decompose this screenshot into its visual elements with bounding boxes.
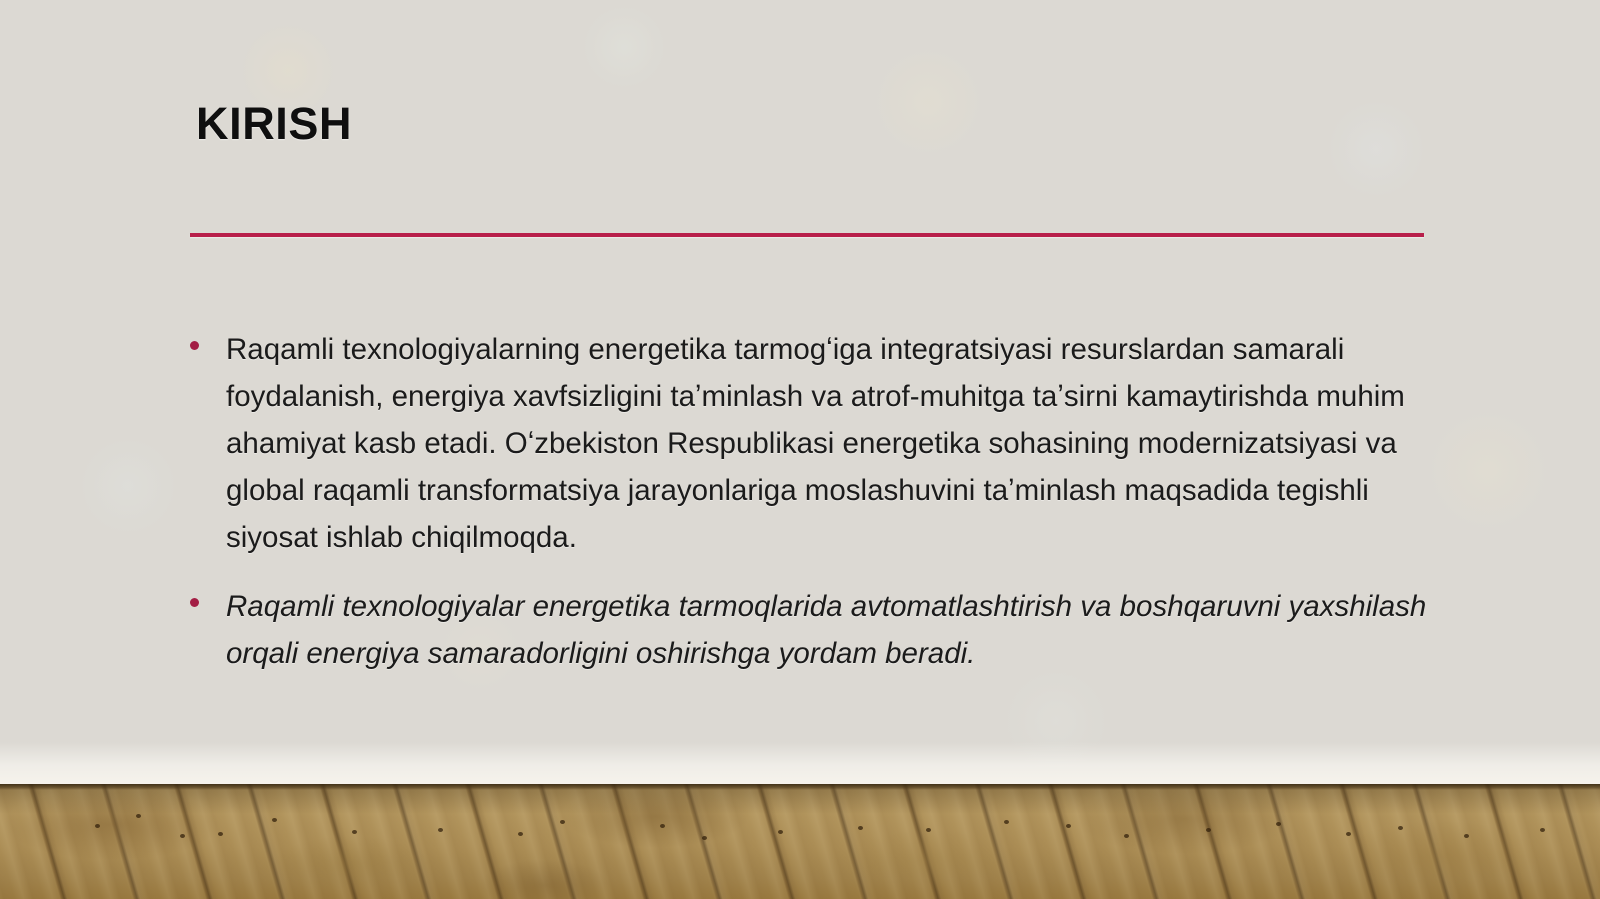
bullet-dot-icon: [190, 583, 226, 607]
bullet-list: Raqamli texnologiyalarning energetika ta…: [190, 326, 1435, 699]
list-item: Raqamli texnologiyalarning energetika ta…: [190, 326, 1435, 561]
bullet-paragraph: Raqamli texnologiyalarning energetika ta…: [226, 326, 1435, 561]
page-title: KIRISH: [196, 99, 352, 149]
list-item: Raqamli texnologiyalar energetika tarmoq…: [190, 583, 1435, 677]
title-underline-rule: [190, 233, 1424, 237]
bullet-paragraph-italic: Raqamli texnologiyalar energetika tarmoq…: [226, 583, 1435, 677]
slide-content: KIRISH Raqamli texnologiyalarning energe…: [0, 0, 1600, 899]
bullet-dot-icon: [190, 326, 226, 350]
presentation-slide: KIRISH Raqamli texnologiyalarning energe…: [0, 0, 1600, 899]
